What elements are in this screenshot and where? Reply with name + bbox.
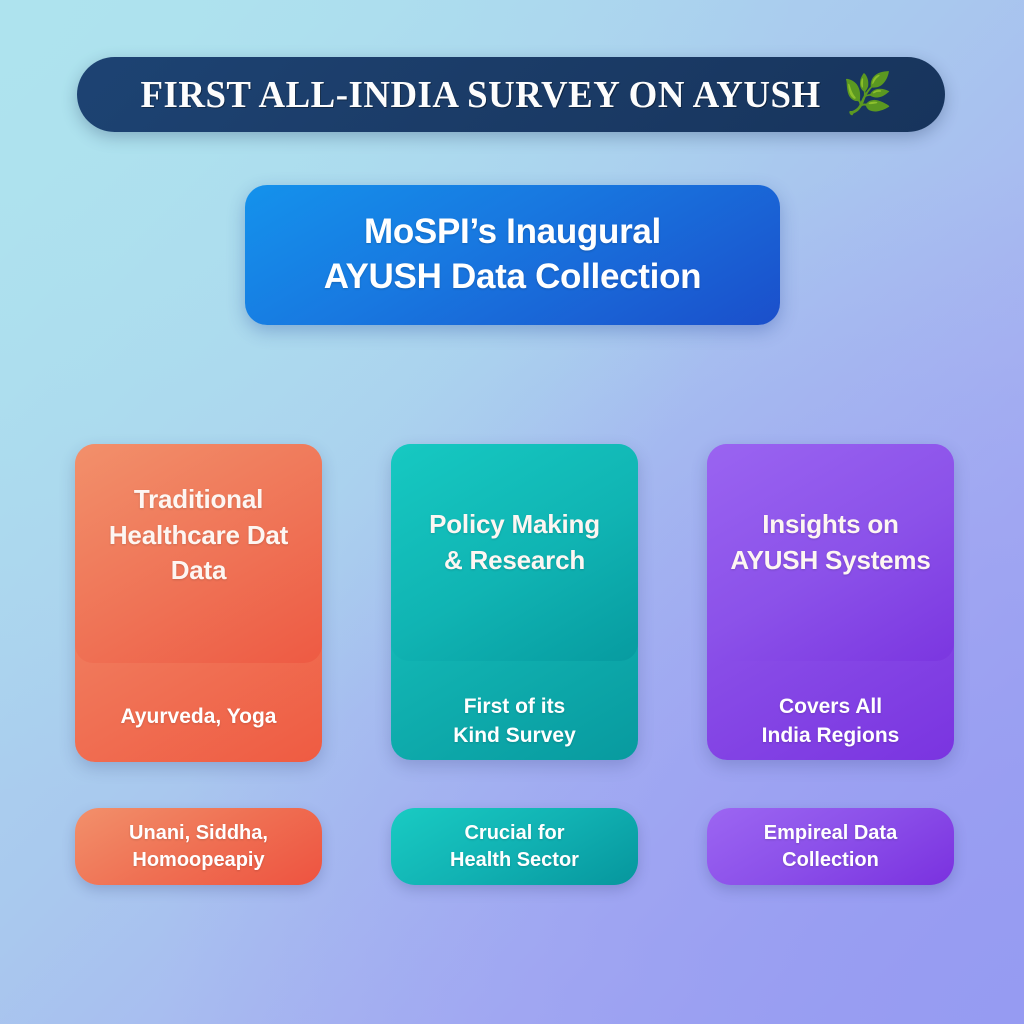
card-header: Insights on AYUSH Systems — [707, 444, 954, 661]
card-title-line: Data — [109, 553, 288, 589]
card-subtitle-line: First of its — [453, 693, 576, 721]
pill-label-line: Collection — [764, 847, 897, 873]
herb-leaf-icon: 🌿 — [843, 74, 893, 114]
pill-label-line: Empireal Data — [764, 820, 897, 846]
card-title: Traditional Healthcare Dat Data — [109, 482, 288, 590]
card-title-line: & Research — [429, 543, 600, 579]
pill-label: Crucial for Health Sector — [450, 820, 579, 873]
card-subtitle-line: India Regions — [762, 722, 900, 750]
card-title: Policy Making & Research — [429, 507, 600, 579]
infographic-poster: FIRST ALL-INDIA SURVEY ON AYUSH 🌿 MoSPI’… — [0, 0, 1024, 1024]
subtitle-line-2: AYUSH Data Collection — [324, 255, 702, 300]
card-header: Traditional Healthcare Dat Data — [75, 444, 322, 663]
card-subtitle: First of its Kind Survey — [453, 693, 576, 750]
card-insights-ayush[interactable]: Insights on AYUSH Systems Covers All Ind… — [707, 444, 954, 760]
card-title-line: Insights on — [730, 507, 930, 543]
card-subtitle-line: Ayurveda, Yoga — [120, 703, 276, 731]
card-subtitle-line: Covers All — [762, 693, 900, 721]
column-traditional-healthcare: Traditional Healthcare Dat Data Ayurveda… — [75, 444, 322, 886]
pill-label-line: Homoopeapiy — [129, 847, 268, 873]
pill-crucial-health-sector[interactable]: Crucial for Health Sector — [391, 808, 638, 885]
card-body: Covers All India Regions — [707, 661, 954, 760]
pill-label-line: Crucial for — [450, 820, 579, 846]
card-subtitle-line: Kind Survey — [453, 722, 576, 750]
card-policy-making[interactable]: Policy Making & Research First of its Ki… — [391, 444, 638, 760]
column-insights-ayush: Insights on AYUSH Systems Covers All Ind… — [707, 444, 954, 886]
card-body: First of its Kind Survey — [391, 661, 638, 760]
card-title: Insights on AYUSH Systems — [730, 507, 930, 579]
pill-label: Empireal Data Collection — [764, 820, 897, 873]
column-policy-making: Policy Making & Research First of its Ki… — [391, 444, 638, 886]
card-title-line: Policy Making — [429, 507, 600, 543]
card-subtitle: Ayurveda, Yoga — [120, 703, 276, 731]
pill-label-line: Health Sector — [450, 847, 579, 873]
card-title-line: Traditional — [109, 482, 288, 518]
card-title-line: AYUSH Systems — [730, 543, 930, 579]
header-title-bar: FIRST ALL-INDIA SURVEY ON AYUSH 🌿 — [77, 57, 945, 132]
page-title: FIRST ALL-INDIA SURVEY ON AYUSH — [140, 73, 820, 117]
pill-label-line: Unani, Siddha, — [129, 820, 268, 846]
card-header: Policy Making & Research — [391, 444, 638, 661]
subtitle-line-1: MoSPI’s Inaugural — [364, 210, 661, 255]
pill-label: Unani, Siddha, Homoopeapiy — [129, 820, 268, 873]
pill-empireal-data-collection[interactable]: Empireal Data Collection — [707, 808, 954, 885]
pill-unani-siddha[interactable]: Unani, Siddha, Homoopeapiy — [75, 808, 322, 885]
card-subtitle: Covers All India Regions — [762, 693, 900, 750]
card-title-line: Healthcare Dat — [109, 518, 288, 554]
card-body: Ayurveda, Yoga — [75, 663, 322, 762]
cards-row: Traditional Healthcare Dat Data Ayurveda… — [75, 444, 954, 886]
subtitle-banner: MoSPI’s Inaugural AYUSH Data Collection — [245, 185, 780, 325]
card-traditional-healthcare[interactable]: Traditional Healthcare Dat Data Ayurveda… — [75, 444, 322, 762]
